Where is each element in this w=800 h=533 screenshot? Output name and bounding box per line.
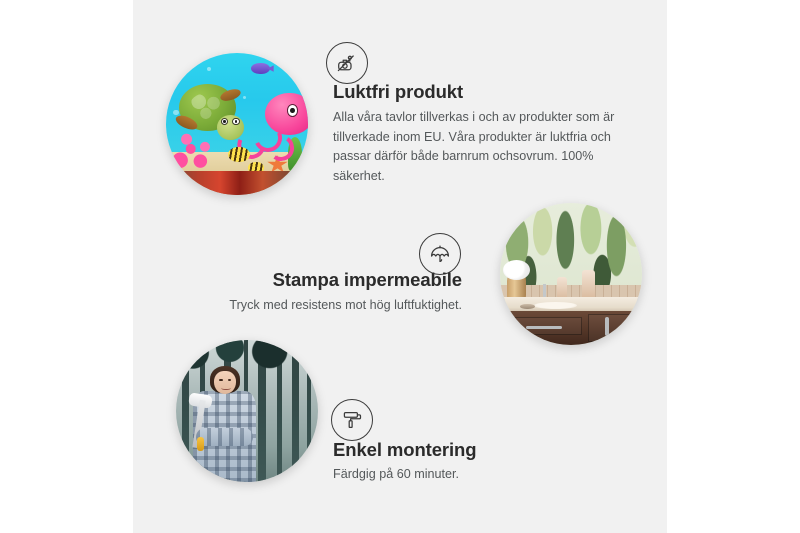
feature-description: Alla våra tavlor tillverkas i och av pro… <box>333 108 626 186</box>
feature-title: Enkel montering <box>333 438 623 461</box>
paint-roller-icon <box>331 399 373 441</box>
feature-description: Tryck med resistens mot hög luftfuktighe… <box>180 296 462 316</box>
feature-title: Stampa impermeabile <box>180 268 462 291</box>
person-folded-arms <box>196 428 253 446</box>
feature-text-odour-free: Luktfri produkt Alla våra tavlor tillver… <box>333 80 626 186</box>
person-face <box>214 371 235 394</box>
faucet <box>543 284 547 297</box>
feature-text-waterproof: Stampa impermeabile Tryck med resistens … <box>180 268 462 316</box>
feature-text-easy-assembly: Enkel montering Färdgig på 60 minuter. <box>333 438 623 485</box>
white-flowers <box>503 260 530 280</box>
product-feature-infographic: Luktfri produkt Alla våra tavlor tillver… <box>0 0 800 533</box>
feature-image-underwater-mural <box>166 53 308 195</box>
turtle-eye <box>232 118 240 126</box>
feature-description: Färdgig på 60 minuter. <box>333 465 623 485</box>
room-foreground-strip <box>166 171 308 195</box>
coral-decor <box>170 130 215 173</box>
feature-image-bathroom <box>500 203 642 345</box>
person-smile <box>221 386 231 390</box>
no-fragrance-icon <box>326 42 368 84</box>
purple-fish <box>251 63 269 74</box>
feature-image-woman-paint-roller <box>176 340 318 482</box>
paint-roller-grip <box>197 437 204 451</box>
octopus-eye <box>287 104 298 117</box>
door-handle <box>605 317 609 337</box>
drawer-handle <box>526 326 563 329</box>
cabinet-door <box>588 314 635 342</box>
feature-title: Luktfri produkt <box>333 80 626 103</box>
yellow-fish <box>228 147 249 163</box>
toiletry-bottle <box>582 270 595 300</box>
